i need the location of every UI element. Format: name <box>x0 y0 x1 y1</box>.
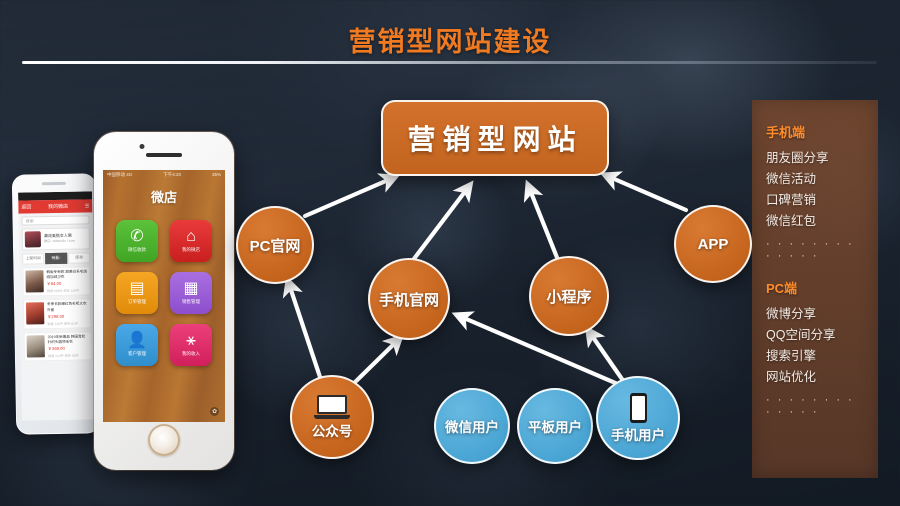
panel-group-pc: PC端 微博分享 QQ空间分享 搜索引擎 网站优化 · · · · · · · … <box>752 264 878 418</box>
app-tile-my-income[interactable]: ⚹ 我的收入 <box>170 324 212 366</box>
node-app[interactable]: APP <box>674 205 752 283</box>
panel-heading: 手机端 <box>766 122 864 141</box>
hub-label: 营销型网站 <box>407 118 582 158</box>
tab-stock[interactable]: 库存 <box>68 252 90 263</box>
bar-chart-icon: ▦ <box>183 281 198 297</box>
node-mini-program[interactable]: 小程序 <box>529 256 609 336</box>
smartphone-icon <box>630 393 647 423</box>
product-title: 2019年新嫩品 韩国宽松针织头圆领毛衣 <box>48 334 89 345</box>
phone-back-tabs: 上架时间 销量↑ 库存 <box>22 252 90 264</box>
tile-label: 我的收入 <box>182 351 200 357</box>
node-label: PC官网 <box>250 235 301 256</box>
node-wechat-user[interactable]: 微信用户 <box>434 388 510 464</box>
node-tablet-user[interactable]: 平板用户 <box>517 388 593 464</box>
status-carrier: 中国移动 4G <box>107 172 132 178</box>
product-meta: 销量 128件 库存 81件 <box>47 320 88 326</box>
panel-ellipsis: · · · · · · · · · · · · · <box>766 238 864 262</box>
node-label: 微信用户 <box>445 416 499 436</box>
app-tile-sales-management[interactable]: ▦ 销售管理 <box>170 272 212 314</box>
channel-panel: 手机端 朋友圈分享 微信活动 口碑营销 微信红包 · · · · · · · ·… <box>752 100 878 478</box>
tab-sales[interactable]: 销量↑ <box>45 253 67 264</box>
page-title: 营销型网站建设 <box>0 20 900 59</box>
phone-front-screen: 中国移动 4G 下午4:20 35% 微店 ✆ 微信收款 ⌂ 我的微店 ▤ 订单… <box>103 170 225 422</box>
product-price: ￥298.00 <box>47 313 88 320</box>
product-meta: 销量 628件 库存 140件 <box>47 288 88 294</box>
panel-item[interactable]: QQ空间分享 <box>766 325 864 346</box>
laptop-icon <box>315 395 349 419</box>
panel-item[interactable]: 口碑营销 <box>766 190 864 211</box>
earpiece-speaker <box>146 153 182 157</box>
shop-avatar <box>25 231 41 247</box>
panel-item[interactable]: 朋友圈分享 <box>766 148 864 169</box>
phone-back-earpiece <box>13 174 95 192</box>
panel-item[interactable]: 搜索引擎 <box>766 346 864 367</box>
phone-back-nav-back[interactable]: 返回 <box>21 203 31 210</box>
panel-item[interactable]: 微信红包 <box>766 211 864 232</box>
product-price: ￥64.00 <box>47 281 88 288</box>
tile-label: 客户管理 <box>128 351 146 357</box>
node-label: APP <box>698 236 729 253</box>
app-tile-customer-management[interactable]: 👤 客户管理 <box>116 324 158 366</box>
front-camera-icon <box>140 144 145 149</box>
app-tile-order-management[interactable]: ▤ 订单管理 <box>116 272 158 314</box>
product-thumbnail <box>26 303 44 325</box>
phone-back-device: 返回 我的微店 ☰ 搜索 潮流美搭女人窝 微店: wdstudio / com … <box>12 173 101 434</box>
tile-label: 订单管理 <box>128 299 146 305</box>
app-tile-wechat-payment[interactable]: ✆ 微信收款 <box>116 220 158 262</box>
node-label: 公众号 <box>312 420 353 440</box>
node-mobile-official[interactable]: 手机官网 <box>368 258 450 340</box>
tab-upload-time[interactable]: 上架时间 <box>22 253 44 264</box>
panel-item[interactable]: 微博分享 <box>766 304 864 325</box>
panel-item[interactable]: 微信活动 <box>766 169 864 190</box>
app-name: 微店 <box>103 187 225 206</box>
node-phone-user[interactable]: 手机用户 <box>596 376 680 460</box>
panel-item[interactable]: 网站优化 <box>766 367 864 388</box>
app-tile-grid: ✆ 微信收款 ⌂ 我的微店 ▤ 订单管理 ▦ 销售管理 👤 客户管理 <box>103 220 225 366</box>
status-battery: 35% <box>212 172 221 177</box>
phone-front-device: 中国移动 4G 下午4:20 35% 微店 ✆ 微信收款 ⌂ 我的微店 ▤ 订单… <box>94 132 234 470</box>
product-thumbnail <box>27 335 45 357</box>
node-official-account[interactable]: 公众号 <box>290 375 374 459</box>
node-pc-official[interactable]: PC官网 <box>236 206 314 284</box>
hub-node-marketing-website[interactable]: 营销型网站 <box>381 100 609 176</box>
product-meta: 销量 210件 库存 33件 <box>48 353 89 359</box>
phone-back-search-input[interactable]: 搜索 <box>21 215 89 225</box>
product-title: 韩版冬新款 甜美日系毛绒绒加绒卫衣 <box>46 269 87 280</box>
home-button[interactable] <box>148 424 180 456</box>
app-tile-my-shop[interactable]: ⌂ 我的微店 <box>170 220 212 262</box>
phone-back-nav-title: 我的微店 <box>48 203 68 210</box>
product-price: ￥369.00 <box>48 346 89 353</box>
document-icon: ▤ <box>129 281 144 297</box>
status-time: 下午4:20 <box>163 172 181 178</box>
node-label: 手机用户 <box>611 424 665 444</box>
node-label: 小程序 <box>546 286 591 307</box>
node-label: 平板用户 <box>528 416 582 436</box>
floating-action-icon[interactable]: ✿ <box>210 407 219 416</box>
shop-url: 微店: wdstudio / com <box>44 239 75 245</box>
tile-label: 我的微店 <box>182 247 200 253</box>
product-row[interactable]: 2019年新嫩品 韩国宽松针织头圆领毛衣 ￥369.00 销量 210件 库存 … <box>23 331 92 362</box>
product-thumbnail <box>25 270 43 292</box>
panel-group-mobile: 手机端 朋友圈分享 微信活动 口碑营销 微信红包 · · · · · · · ·… <box>752 100 878 262</box>
title-divider <box>22 61 877 64</box>
chat-money-icon: ✆ <box>130 229 143 245</box>
phone-back-nav-more[interactable]: ☰ <box>85 203 90 209</box>
product-row[interactable]: 韩版冬新款 甜美日系毛绒绒加绒卫衣 ￥64.00 销量 628件 库存 140件 <box>22 266 91 297</box>
phone-back-shop-card[interactable]: 潮流美搭女人窝 微店: wdstudio / com <box>22 227 90 250</box>
phone-back-screen: 返回 我的微店 ☰ 搜索 潮流美搭女人窝 微店: wdstudio / com … <box>18 191 96 420</box>
phone-front-top <box>94 132 234 170</box>
node-label: 手机官网 <box>379 289 439 310</box>
panel-ellipsis: · · · · · · · · · · · · · <box>766 394 864 418</box>
money-bag-icon: ⚹ <box>186 333 196 349</box>
slide-canvas: 营销型网站建设 返回 我的微店 ☰ 搜索 潮流美搭女人窝 微店: wdstudi… <box>0 0 900 506</box>
phone-front-statusbar: 中国移动 4G 下午4:20 35% <box>103 170 225 179</box>
person-icon: 👤 <box>127 333 147 349</box>
tile-label: 微信收款 <box>128 247 146 253</box>
product-row[interactable]: 冬季长款细红色毛呢大衣外套 ￥298.00 销量 128件 库存 81件 <box>23 299 92 330</box>
phone-back-navbar: 返回 我的微店 ☰ <box>18 199 92 213</box>
product-title: 冬季长款细红色毛呢大衣外套 <box>47 302 88 313</box>
tile-label: 销售管理 <box>182 299 200 305</box>
storefront-icon: ⌂ <box>186 229 196 245</box>
panel-heading: PC端 <box>766 278 864 297</box>
